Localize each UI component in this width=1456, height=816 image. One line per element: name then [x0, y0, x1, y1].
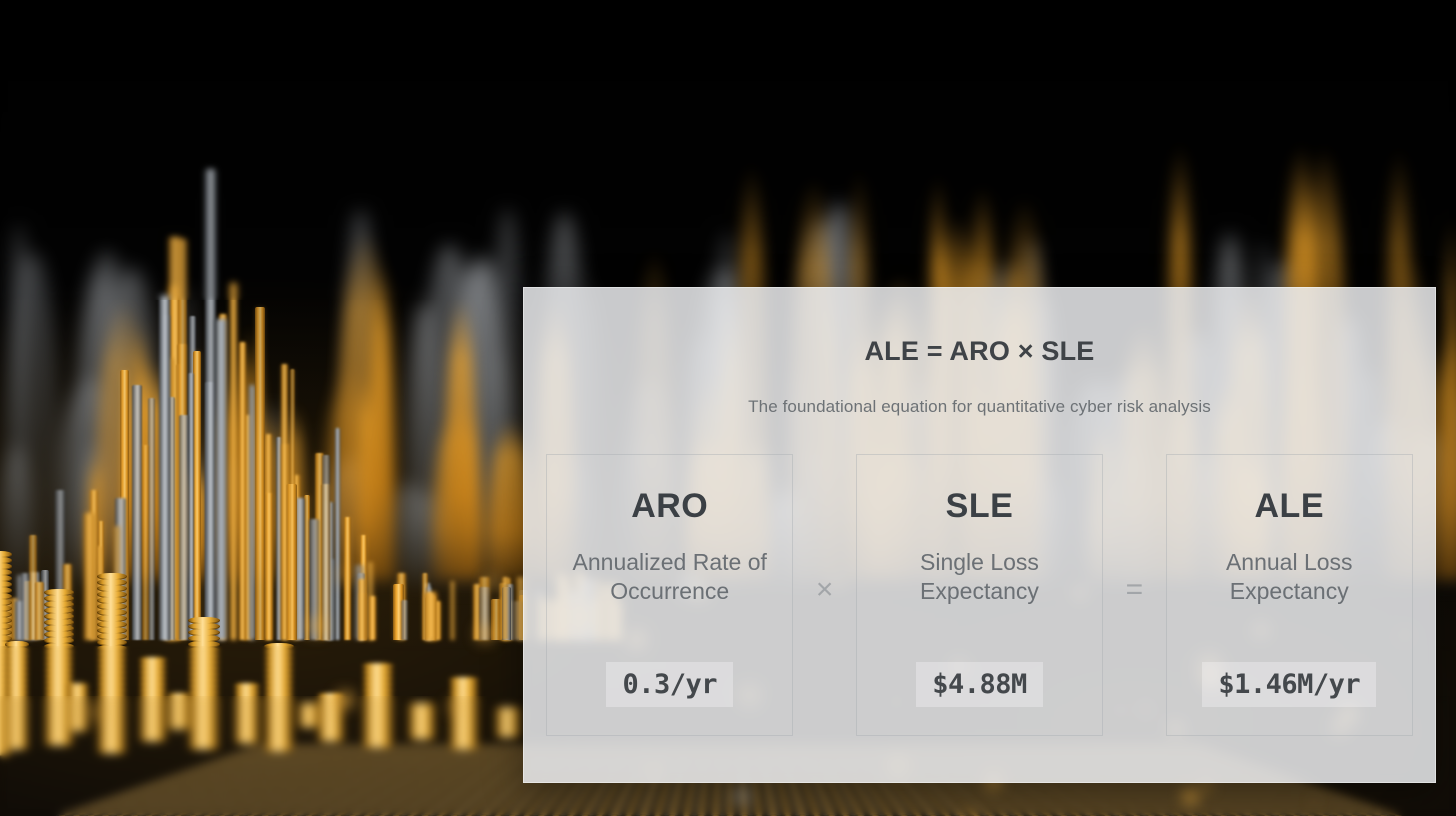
term-name-aro: Annualized Rate of Occurrence	[570, 548, 770, 606]
term-name-ale: Annual Loss Expectancy	[1189, 548, 1389, 606]
term-value-ale: $1.46M/yr	[1202, 662, 1376, 707]
screenshot-canvas: ALE = ARO × SLE The foundational equatio…	[0, 0, 1456, 816]
term-card-sle[interactable]: SLE Single Loss Expectancy $4.88M	[856, 454, 1103, 736]
background-depth-blur-top	[0, 0, 1456, 300]
term-abbr-sle: SLE	[946, 487, 1014, 526]
term-value-aro: 0.3/yr	[606, 662, 733, 707]
page-subtitle: The foundational equation for quantitati…	[546, 397, 1413, 417]
term-abbr-aro: ARO	[631, 487, 708, 526]
term-card-aro[interactable]: ARO Annualized Rate of Occurrence 0.3/yr	[546, 454, 793, 736]
page-title: ALE = ARO × SLE	[546, 336, 1413, 367]
equals-operator-icon: =	[1103, 454, 1165, 736]
term-abbr-ale: ALE	[1255, 487, 1325, 526]
term-card-ale[interactable]: ALE Annual Loss Expectancy $1.46M/yr	[1166, 454, 1413, 736]
multiply-operator-icon: ×	[793, 454, 855, 736]
equation-panel: ALE = ARO × SLE The foundational equatio…	[523, 287, 1436, 783]
term-value-sle: $4.88M	[916, 662, 1043, 707]
term-name-sle: Single Loss Expectancy	[879, 548, 1079, 606]
equation-term-cards: ARO Annualized Rate of Occurrence 0.3/yr…	[546, 454, 1413, 736]
